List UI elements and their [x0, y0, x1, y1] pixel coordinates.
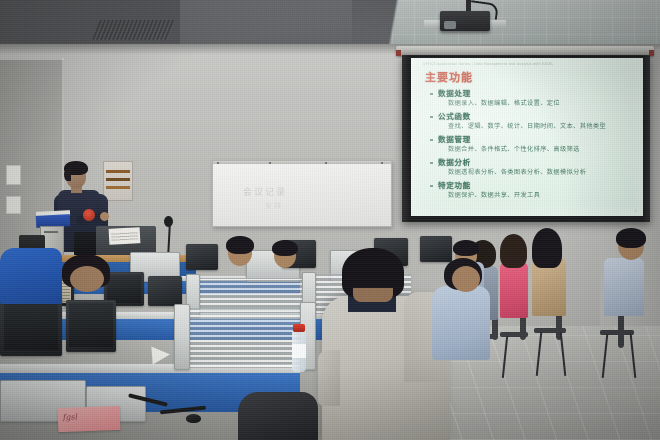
audience-hair-long: [532, 228, 562, 268]
sticky-note: fgsl: [58, 406, 121, 432]
slide-section-detail: 数据透视表分析、各类图表分析、数据模拟分析: [429, 168, 635, 178]
slide-section-detail: 数据合并、条件格式、个性化排序、高级筛选: [429, 145, 635, 155]
student-head: [452, 266, 480, 292]
poster-stripe: [106, 170, 130, 173]
wall-notice-paper: [6, 165, 21, 185]
whiteboard-bolt: [217, 162, 219, 164]
projected-slide: OFFICE Application Series | Data Managem…: [411, 58, 643, 216]
bottle-cap: [293, 324, 305, 332]
slide-section-heading: 数据处理: [429, 88, 635, 99]
slide-section-heading: 数据管理: [429, 134, 635, 145]
slide-section: 公式函数 查找、逻辑、数学、统计、日期时间、文本、其他类型: [429, 111, 635, 132]
chair-seat: [500, 332, 528, 337]
classroom-photo-scene: OFFICE Application Series | Data Managem…: [0, 0, 660, 440]
foreground-dark-shoulder: [238, 392, 318, 440]
slide-section: 数据处理 数据录入、数据编辑、格式设置、定位: [429, 88, 635, 109]
whiteboard-writing-secondary: 安排: [265, 201, 283, 211]
student-hair: [226, 236, 254, 254]
monitor-screen: [69, 303, 113, 347]
screen-rail-cap-left: [396, 50, 401, 56]
screen-border-left: [402, 55, 410, 222]
whiteboard-frame: [213, 161, 391, 164]
pc-drive-slot: [44, 231, 58, 233]
slide-section-heading: 特定功能: [429, 180, 635, 191]
monitor: [0, 296, 62, 356]
whiteboard-writing: 会议记录: [243, 185, 287, 198]
student-hair: [453, 240, 479, 256]
audience-body: [604, 258, 644, 316]
slide-page-number: 1: [635, 209, 637, 213]
presenter-hand: [100, 212, 109, 221]
monitor: [148, 276, 182, 306]
monitor-screen: [4, 300, 58, 350]
foreground-man-arm: [318, 350, 340, 406]
foreground-man-neck: [353, 288, 393, 302]
podium-handout-lines: [111, 231, 138, 240]
ceiling-vent-icon: [92, 20, 176, 40]
paper-cone-marker: [151, 345, 170, 364]
whiteboard-bolt: [269, 162, 271, 164]
audience-body: [500, 262, 528, 318]
student-head: [70, 266, 104, 292]
whiteboard-bolt: [381, 162, 383, 164]
mouse-device: [186, 414, 201, 423]
slide-section: 数据分析 数据透视表分析、各类图表分析、数据模拟分析: [429, 157, 635, 178]
slide-section-detail: 数据保护、数据共享、开发工具: [429, 191, 635, 201]
monitor: [186, 244, 218, 270]
slide-body: 数据处理 数据录入、数据编辑、格式设置、定位 公式函数 查找、逻辑、数学、统计、…: [429, 88, 635, 203]
projector-lens-icon: [444, 21, 456, 29]
slide-section-heading: 数据分析: [429, 157, 635, 168]
podium-handout: [109, 227, 141, 245]
monitor: [66, 300, 116, 352]
slide-header-text: OFFICE Application Series | Data Managem…: [423, 62, 637, 66]
slide-section-detail: 数据录入、数据编辑、格式设置、定位: [429, 99, 635, 109]
audience-hair: [616, 228, 646, 248]
wall-notice-paper: [6, 196, 21, 214]
monitor: [420, 236, 452, 262]
sticky-note-text: fgsl: [63, 412, 78, 422]
desk-glass-partition: [186, 308, 308, 368]
student-body: [0, 248, 62, 304]
student-hair: [272, 240, 298, 256]
screen-border-right: [642, 55, 650, 222]
desk-post: [174, 304, 190, 370]
presenter-shirt-logo: [83, 209, 95, 221]
slide-section: 特定功能 数据保护、数据共享、开发工具: [429, 180, 635, 201]
slide-section: 数据管理 数据合并、条件格式、个性化排序、高级筛选: [429, 134, 635, 155]
bottle-label: [292, 344, 306, 358]
poster-stripe: [106, 178, 130, 181]
slide-section-detail: 查找、逻辑、数学、统计、日期时间、文本、其他类型: [429, 122, 635, 132]
slide-title: 主要功能: [425, 69, 473, 85]
slide-section-heading: 公式函数: [429, 111, 635, 122]
presenter-hair-side: [64, 168, 71, 181]
wall-poster: [103, 161, 133, 201]
audience-hair-long: [500, 234, 527, 268]
student-body: [432, 286, 490, 360]
monitor-screen: [107, 275, 141, 303]
poster-stripe: [106, 186, 130, 189]
whiteboard-bolt: [325, 162, 327, 164]
whiteboard: 会议记录 安排: [212, 160, 392, 227]
